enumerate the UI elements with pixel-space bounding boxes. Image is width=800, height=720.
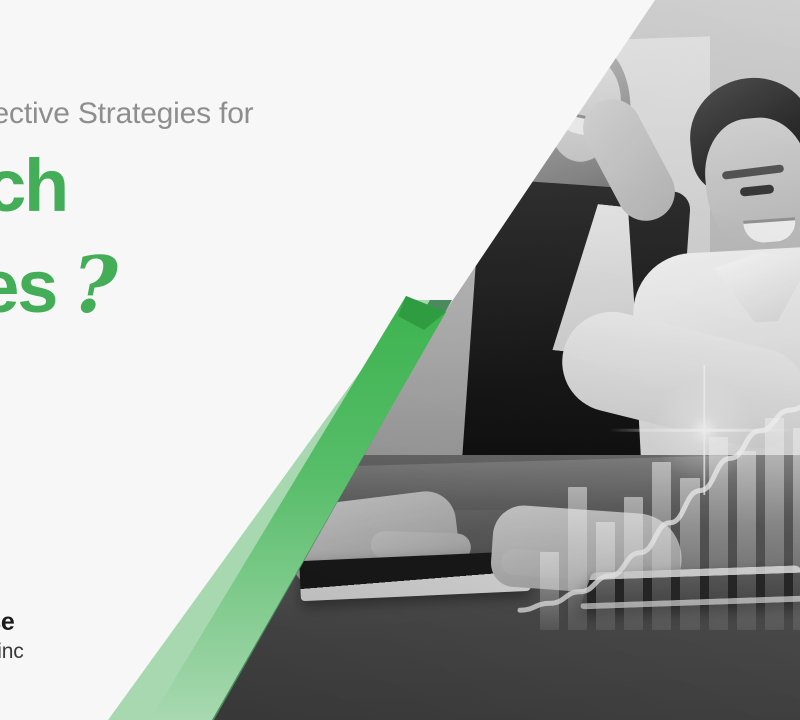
question-mark: ? (72, 240, 118, 331)
brand-name: tainise (0, 608, 14, 637)
promo-card: ROI: Effective Strategies for rTech vice… (0, 0, 800, 720)
subtitle: ROI: Effective Strategies for (0, 96, 408, 133)
brand-handle: tainiseinc (0, 640, 24, 664)
headline-line-2-text: vices (0, 245, 56, 328)
headline-line-2: vices? (0, 248, 118, 324)
headline-line-1: rTech (0, 150, 67, 223)
